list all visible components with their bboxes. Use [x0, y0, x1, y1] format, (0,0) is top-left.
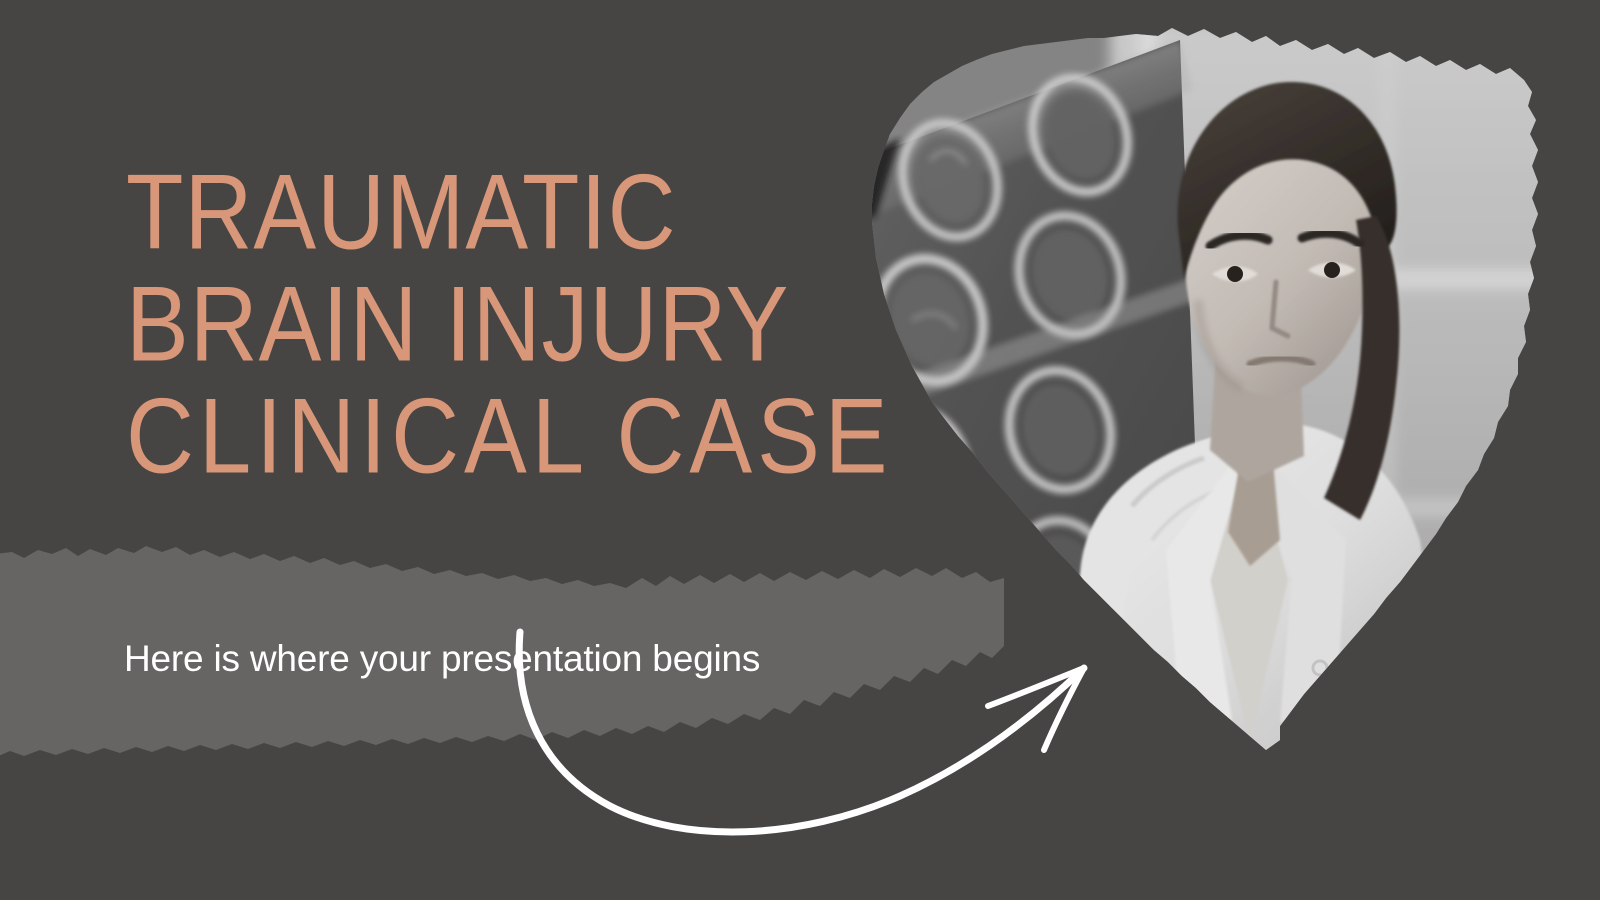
title-line-2: BRAIN INJURY: [126, 262, 878, 387]
title-line-1: TRAUMATIC: [126, 150, 878, 275]
photo-content: [780, 20, 1570, 870]
page-title: TRAUMATIC BRAIN INJURY CLINICAL CASE: [126, 150, 886, 486]
doctor-photo: [780, 20, 1570, 870]
subtitle-text: Here is where your presentation begins: [124, 636, 760, 682]
title-slide: TRAUMATIC BRAIN INJURY CLINICAL CASE Her…: [0, 0, 1600, 900]
title-line-3: CLINICAL CASE: [126, 374, 878, 499]
